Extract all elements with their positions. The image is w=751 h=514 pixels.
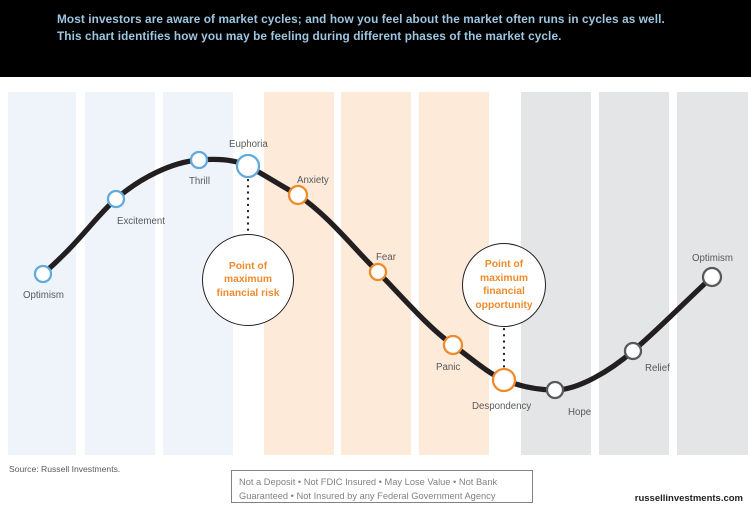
site-url: russellinvestments.com: [635, 493, 743, 504]
label-excitement-1: Excitement: [117, 216, 165, 227]
marker-optimism[interactable]: [35, 266, 51, 282]
source-note: Source: Russell Investments.: [9, 464, 120, 474]
risk-line-2: maximum: [224, 274, 272, 285]
label-euphoria-3: Euphoria: [229, 139, 268, 150]
opportunity-line-4: opportunity: [475, 300, 532, 311]
marker-hope[interactable]: [547, 382, 563, 398]
callout-max-financial-risk: Point of maximum financial risk: [202, 234, 294, 326]
opportunity-line-3: financial: [483, 286, 525, 297]
marker-anxiety[interactable]: [289, 186, 307, 204]
label-anxiety-4: Anxiety: [297, 175, 329, 186]
opportunity-line-2: maximum: [480, 273, 528, 284]
opportunity-line-1: Point of: [485, 259, 523, 270]
callout-max-financial-risk-text: Point of maximum financial risk: [211, 260, 286, 301]
risk-line-1: Point of: [229, 261, 267, 272]
header-line-2: This chart identifies how you may be fee…: [57, 29, 561, 43]
header-line-1: Most investors are aware of market cycle…: [57, 12, 665, 26]
label-panic-6: Panic: [436, 362, 460, 373]
label-relief-9: Relief: [645, 363, 670, 374]
label-thrill-2: Thrill: [189, 176, 210, 187]
marker-excitement[interactable]: [108, 191, 124, 207]
disclosure-line-1: Not a Deposit • Not FDIC Insured • May L…: [239, 476, 525, 490]
marker-relief[interactable]: [625, 343, 641, 359]
label-hope-8: Hope: [568, 407, 591, 418]
marker-fear[interactable]: [370, 264, 386, 280]
callout-max-financial-opportunity: Point of maximum financial opportunity: [462, 243, 546, 327]
header-banner: Most investors are aware of market cycle…: [0, 0, 751, 77]
disclosure-box: Not a Deposit • Not FDIC Insured • May L…: [231, 470, 533, 503]
label-optimism-0: Optimism: [23, 290, 64, 301]
label-fear-5: Fear: [376, 252, 396, 263]
chart-plot-area: OptimismExcitementThrillEuphoriaAnxietyF…: [0, 92, 751, 455]
marker-panic[interactable]: [444, 336, 462, 354]
disclosure-line-2: Guaranteed • Not Insured by any Federal …: [239, 490, 525, 504]
marker-despondency[interactable]: [493, 369, 515, 391]
marker-thrill[interactable]: [191, 152, 207, 168]
marker-euphoria[interactable]: [237, 155, 259, 177]
risk-line-3: financial risk: [217, 288, 280, 299]
label-optimism-10: Optimism: [692, 253, 733, 264]
label-despondency-7: Despondency: [472, 401, 531, 412]
sentiment-curve-svg: [0, 92, 751, 455]
callout-max-financial-opportunity-text: Point of maximum financial opportunity: [469, 258, 538, 312]
marker-optimism[interactable]: [703, 268, 721, 286]
market-cycle-infographic: Most investors are aware of market cycle…: [0, 0, 751, 514]
